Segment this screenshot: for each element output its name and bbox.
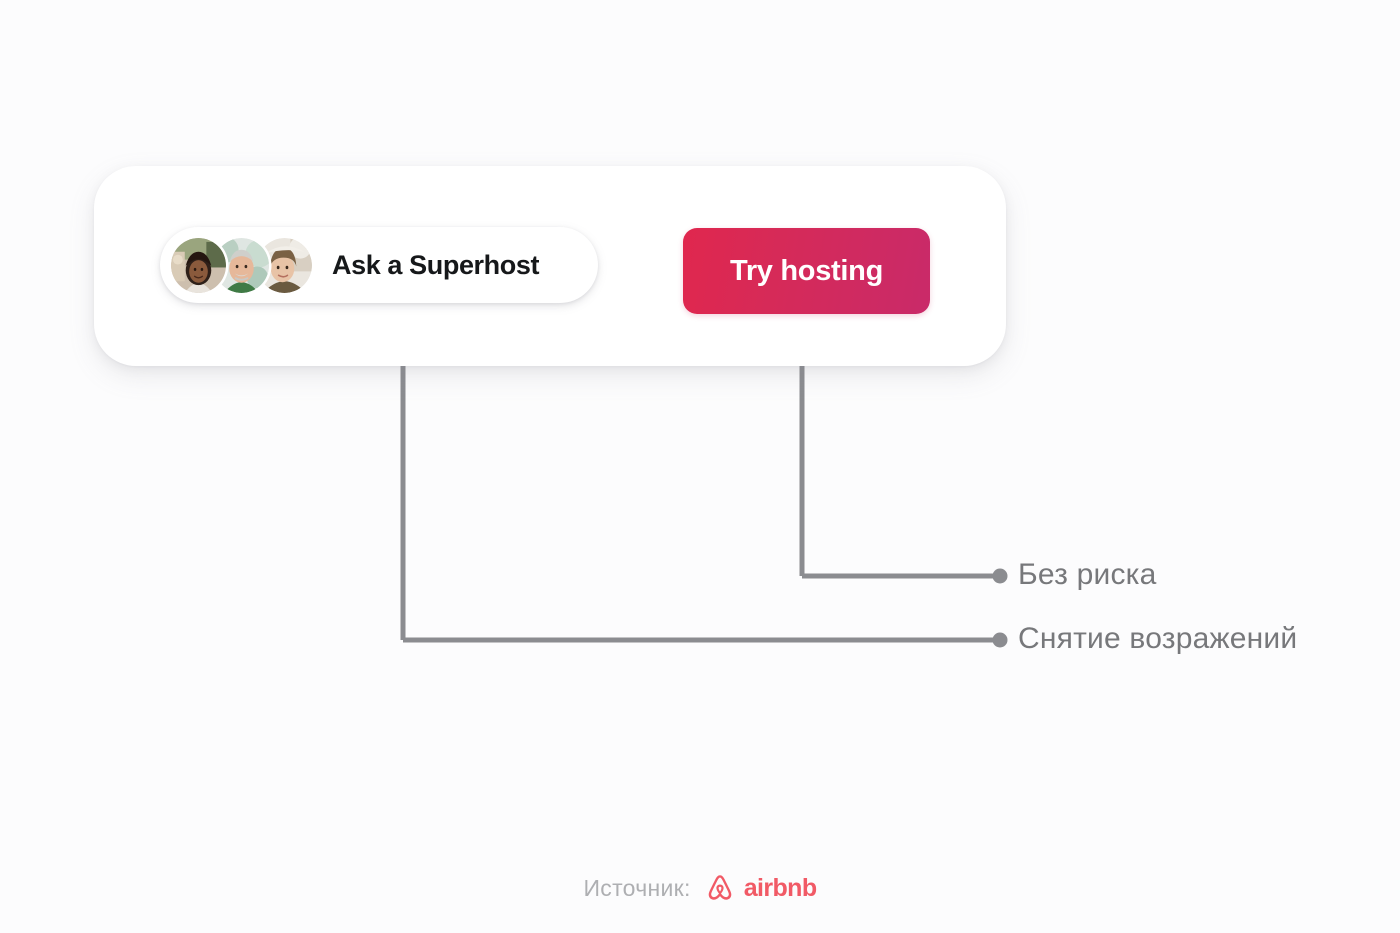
connector-objections [394, 327, 1008, 648]
slide-canvas: Ask a Superhost Try hosting Без риска Сн… [0, 0, 1400, 933]
airbnb-belo-icon [705, 872, 735, 904]
superhost-avatar-1 [171, 238, 226, 293]
try-hosting-button[interactable]: Try hosting [683, 228, 930, 314]
annotation-connectors [0, 0, 1400, 933]
ask-a-superhost-label: Ask a Superhost [332, 250, 539, 281]
source-footer: Источник: airbnb [0, 872, 1400, 904]
source-label: Источник: [583, 875, 690, 902]
annotation-label-objections: Снятие возражений [1018, 622, 1297, 656]
try-hosting-label: Try hosting [730, 255, 883, 288]
airbnb-wordmark: airbnb [744, 874, 817, 903]
ask-a-superhost-button[interactable]: Ask a Superhost [160, 227, 598, 303]
airbnb-cta-card: Ask a Superhost Try hosting [94, 166, 1006, 366]
airbnb-logo: airbnb [705, 872, 817, 904]
annotation-label-no-risk: Без риска [1018, 558, 1157, 592]
superhost-avatar-group [171, 238, 312, 293]
